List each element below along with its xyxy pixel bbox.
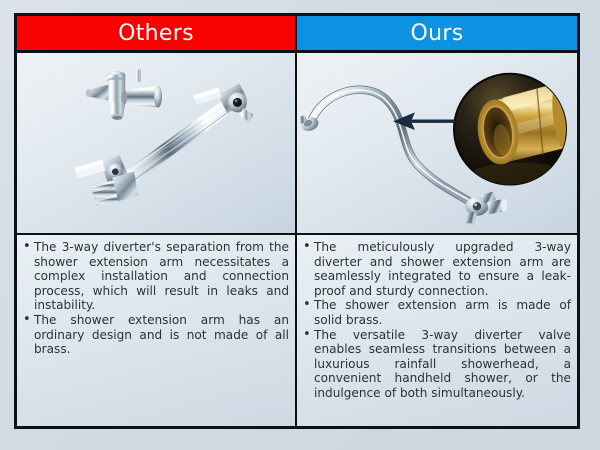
list-item: The shower extension arm is made of soli… — [303, 298, 571, 327]
product-photo-ours — [297, 53, 577, 235]
list-item: The shower extension arm has an ordinary… — [23, 313, 289, 357]
comparison-infographic: Others Ours — [0, 0, 600, 450]
comparison-table: Others Ours — [14, 13, 580, 429]
bullets-others: The 3-way diverter's separation from the… — [17, 235, 297, 426]
integrated-diverter — [464, 191, 507, 229]
brass-tube-inset — [454, 74, 573, 189]
table-text-row: The 3-way diverter's separation from the… — [17, 235, 577, 426]
table-header-row: Others Ours — [17, 16, 577, 53]
list-item: The 3-way diverter's separation from the… — [23, 240, 289, 313]
list-item: The meticulously upgraded 3-way diverter… — [303, 240, 571, 298]
extension-arm-illustration — [75, 84, 254, 206]
list-item: The versatile 3-way diverter valve enabl… — [303, 328, 571, 401]
product-photo-others — [17, 53, 297, 235]
table-image-row — [17, 53, 577, 235]
column-header-ours: Ours — [297, 16, 577, 53]
column-header-others: Others — [17, 16, 297, 53]
diverter-part-illustration — [86, 66, 162, 120]
bullets-ours: The meticulously upgraded 3-way diverter… — [297, 235, 577, 426]
